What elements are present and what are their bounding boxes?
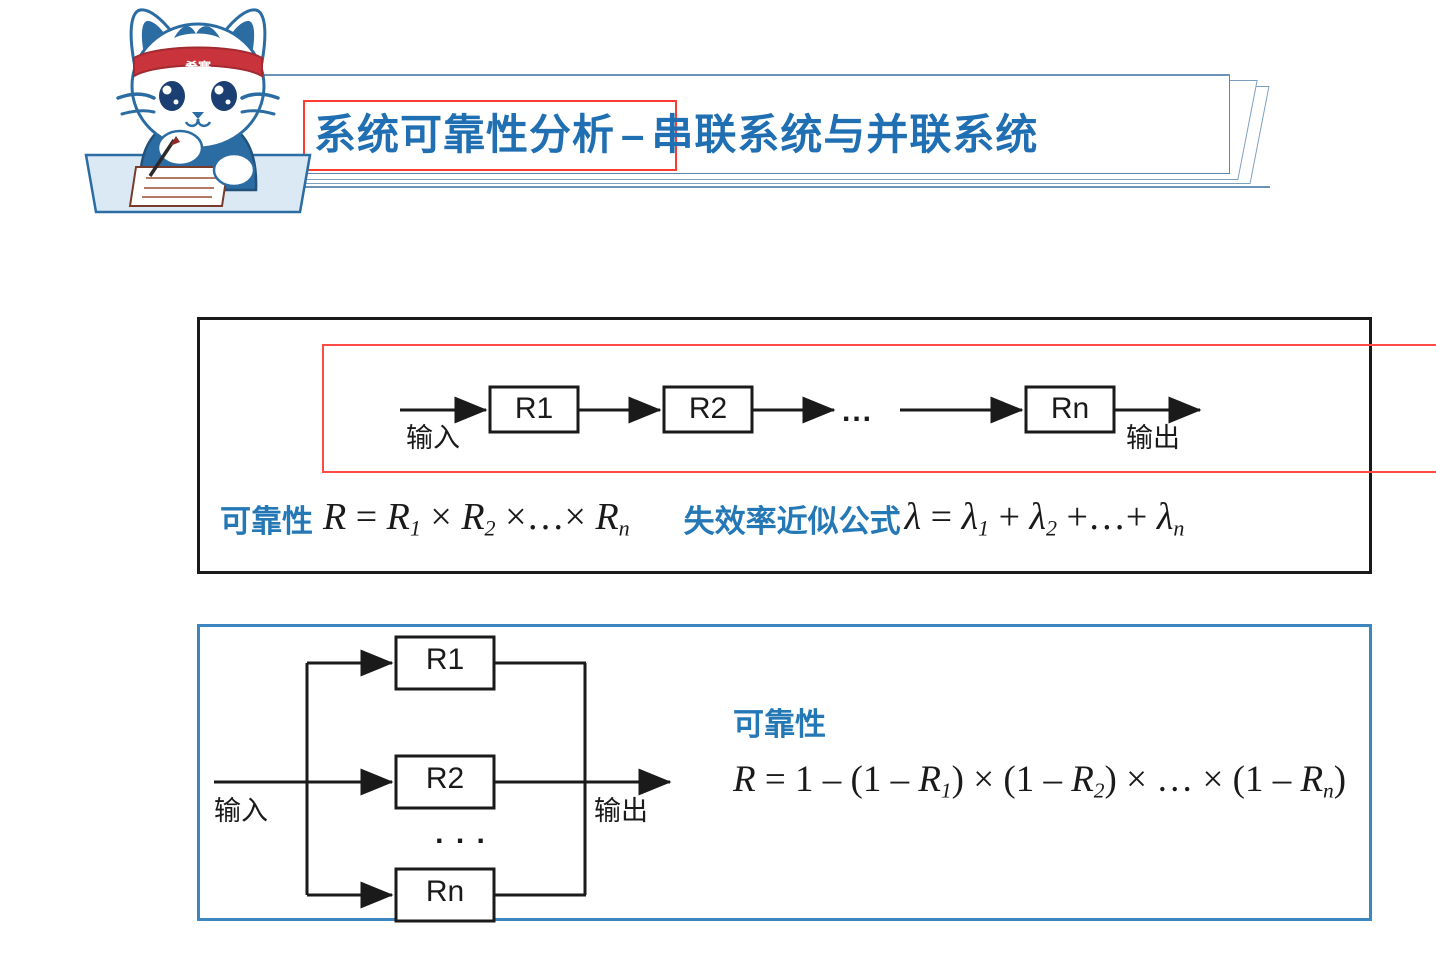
formula-term-2: R	[461, 496, 484, 538]
parallel-block-r2: R2	[396, 762, 494, 796]
p-sub-2: 2	[1094, 778, 1105, 802]
page-title-rest: 串联系统与并联系统	[651, 111, 1038, 158]
p-minus-n: –	[1263, 759, 1300, 800]
p-minus-2: –	[1034, 759, 1071, 800]
formula-term-n: R	[595, 496, 618, 538]
lambda-op-2: +	[1066, 496, 1087, 538]
p-term-2: R	[1071, 759, 1094, 800]
formula-term-1: R	[387, 496, 410, 538]
slide-root: 系统可靠性分析–串联系统与并联系统 希赛	[0, 0, 1436, 974]
parallel-reliability-formula: R = 1 – (1 – R1) × (1 – R2) × … × (1 – R…	[733, 759, 1346, 800]
p-minus: –	[813, 759, 850, 800]
p-paren-close-2: )	[1105, 759, 1117, 800]
lambda-sub-n: n	[1173, 515, 1184, 540]
p-paren-open-2: (	[1003, 759, 1015, 800]
p-times-2: ×	[1117, 759, 1156, 800]
lambda-op-3: +	[1126, 496, 1147, 538]
series-block-r1: R1	[490, 392, 578, 426]
page-title: 系统可靠性分析–串联系统与并联系统	[314, 104, 1038, 166]
p-ellipsis: …	[1156, 759, 1193, 800]
formula-op-3: ×	[565, 496, 586, 538]
lambda-lhs: λ	[905, 496, 921, 538]
formula-op-2: ×	[505, 496, 526, 538]
lambda-sub-2: 2	[1046, 515, 1057, 540]
parallel-block-r1: R1	[396, 643, 494, 677]
formula-lhs: R	[323, 496, 346, 538]
parallel-reliability-label: 可靠性	[733, 699, 1363, 744]
formula-op-1: ×	[430, 496, 451, 538]
parallel-formula-block: 可靠性 R = 1 – (1 – R1) × (1 – R2) × … × (1…	[733, 699, 1363, 803]
series-ellipsis: ...	[842, 395, 873, 429]
lambda-term-2: λ	[1030, 496, 1046, 538]
series-output-label: 输出	[1126, 416, 1180, 455]
p-one: 1	[795, 759, 814, 800]
formula-sub-2: 2	[485, 515, 496, 540]
page-title-highlighted: 系统可靠性分析	[314, 111, 615, 158]
formula-eq: =	[356, 496, 377, 538]
svg-text:希赛: 希赛	[185, 60, 212, 75]
series-diagram	[200, 320, 1375, 480]
parallel-input-label: 输入	[214, 789, 268, 828]
parallel-system-panel: R1 R2 Rn . . . 输入 输出 可靠性 R = 1 – (1 – R1…	[197, 624, 1372, 921]
cat-mascot-icon: 希赛	[78, 0, 318, 215]
p-lhs: R	[733, 759, 756, 800]
parallel-ellipsis: . . .	[412, 817, 510, 851]
lambda-ellipsis: …	[1088, 496, 1126, 538]
lambda-eq: =	[931, 496, 952, 538]
title-banner: 系统可靠性分析–串联系统与并联系统 希赛	[0, 0, 1436, 230]
page-title-dash: –	[615, 111, 651, 158]
formula-ellipsis: …	[527, 496, 565, 538]
p-one-1: 1	[863, 759, 882, 800]
p-times-3: ×	[1193, 759, 1232, 800]
series-block-rn: Rn	[1026, 392, 1114, 426]
series-system-panel: R1 R2 Rn ... 输入 输出 可靠性 R = R1 × R2 ×…× R…	[197, 317, 1372, 574]
p-term-n: R	[1300, 759, 1323, 800]
series-failure-rate-formula: λ = λ1 + λ2 +…+ λn	[905, 495, 1185, 542]
p-sub-1: 1	[941, 778, 952, 802]
series-reliability-label: 可靠性	[220, 496, 313, 541]
p-term-1: R	[918, 759, 941, 800]
p-eq: =	[756, 759, 795, 800]
series-failure-rate-label: 失效率近似公式	[684, 496, 901, 541]
p-paren-close-1: )	[952, 759, 964, 800]
lambda-sub-1: 1	[978, 515, 989, 540]
p-minus-1: –	[881, 759, 918, 800]
lambda-term-1: λ	[962, 496, 978, 538]
p-one-2: 1	[1016, 759, 1035, 800]
series-block-r2: R2	[664, 392, 752, 426]
series-formula-row: 可靠性 R = R1 × R2 ×…× Rn 失效率近似公式 λ = λ1 + …	[220, 483, 1360, 553]
p-paren-open-n: (	[1233, 759, 1245, 800]
lambda-op-1: +	[999, 496, 1020, 538]
parallel-output-label: 输出	[594, 789, 648, 828]
banner-rule-bottom	[160, 186, 1270, 188]
p-paren-open-1: (	[850, 759, 862, 800]
p-one-n: 1	[1245, 759, 1264, 800]
p-paren-close-n: )	[1334, 759, 1346, 800]
p-sub-n: n	[1323, 778, 1334, 802]
lambda-term-n: λ	[1157, 496, 1173, 538]
formula-sub-n: n	[619, 515, 630, 540]
parallel-block-rn: Rn	[396, 875, 494, 909]
banner-rule-top	[160, 74, 1230, 76]
series-input-label: 输入	[406, 416, 460, 455]
series-reliability-formula: R = R1 × R2 ×…× Rn	[323, 495, 630, 542]
p-times-1: ×	[964, 759, 1003, 800]
formula-sub-1: 1	[410, 515, 421, 540]
